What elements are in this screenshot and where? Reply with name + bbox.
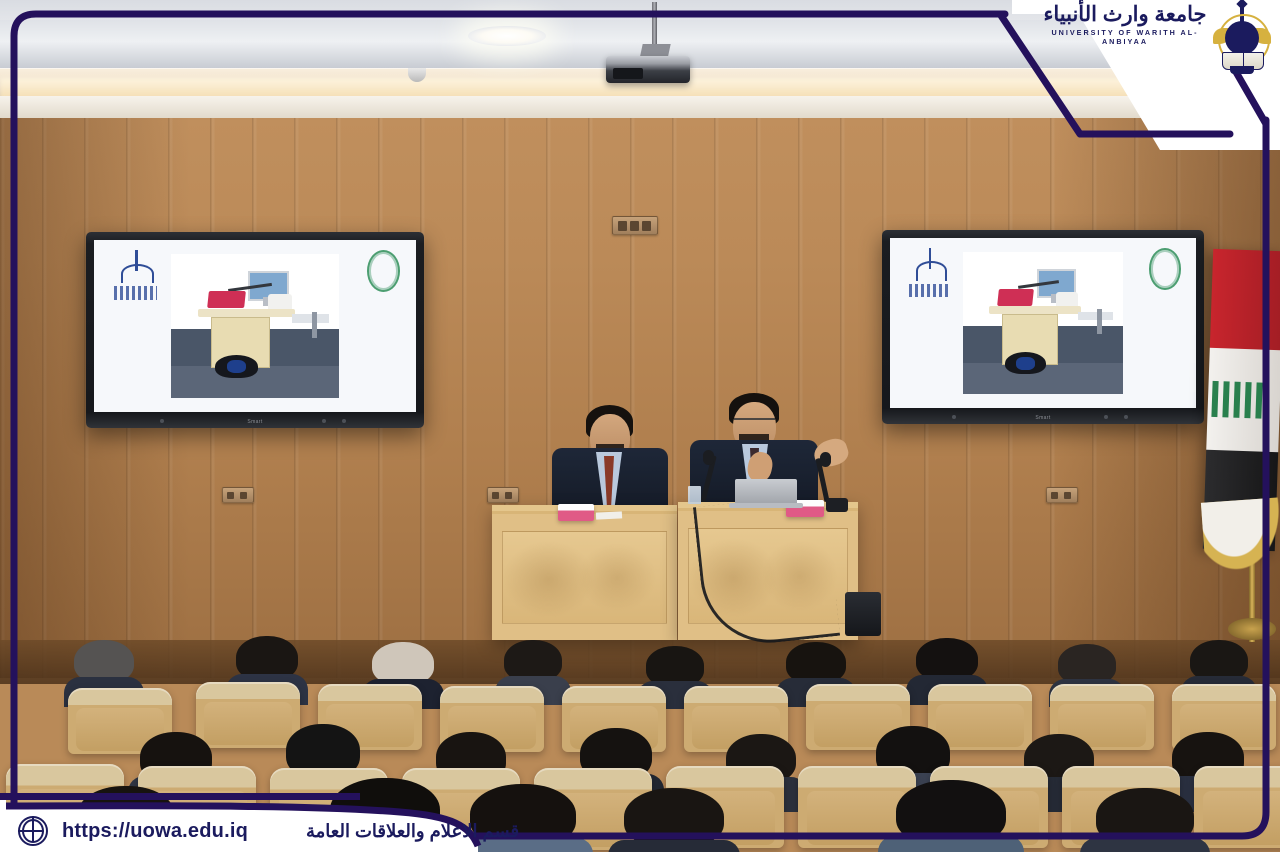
- paper-sheet: [596, 511, 622, 519]
- satchel-bag: [845, 592, 881, 636]
- wall-socket: [612, 216, 658, 235]
- flag-takbir-script: [1211, 381, 1266, 419]
- display-brand-label: Smart: [1035, 415, 1050, 421]
- wall-socket: [222, 487, 254, 503]
- podium-desk-left: [492, 505, 677, 640]
- slide-university-logo: [113, 250, 158, 302]
- display-screen-left: Smart: [86, 232, 424, 428]
- event-photograph: Smart: [0, 0, 1280, 852]
- slide-university-logo: [908, 248, 951, 299]
- camera-device: [826, 498, 848, 512]
- eyeglasses-icon: [734, 418, 775, 427]
- website-url[interactable]: https://uowa.edu.iq: [62, 820, 248, 843]
- display-brand-label: Smart: [247, 419, 262, 425]
- recessed-downlight: [468, 26, 546, 46]
- slide-content-left: [94, 240, 416, 412]
- wordmark-english: UNIVERSITY OF WARITH AL-ANBIYAA: [1040, 28, 1210, 46]
- slide-content-right: [890, 238, 1196, 408]
- tissue-box: [558, 504, 594, 521]
- microphone-head: [820, 452, 831, 467]
- ceiling-projector: [606, 56, 690, 83]
- slide-photo: [963, 252, 1122, 395]
- wall-socket: [487, 487, 519, 503]
- auditorium-seat: [1194, 766, 1280, 848]
- attendee: [1096, 788, 1194, 852]
- globe-icon: [18, 816, 48, 846]
- photo-card: Smart: [0, 0, 1280, 852]
- slide-green-seal: [367, 250, 400, 292]
- footer-bar: https://uowa.edu.iq قسم الاعلام والعلاقا…: [0, 810, 760, 852]
- wordmark-arabic: جامعة وارث الأنبياء: [1040, 4, 1210, 26]
- projector-rod: [652, 2, 657, 50]
- slide-green-seal: [1149, 248, 1181, 289]
- display-screen-right: Smart: [882, 230, 1204, 424]
- flag-gold-fringe: [1201, 497, 1280, 622]
- department-name: قسم الاعلام والعلاقات العامة: [306, 821, 519, 842]
- slide-photo: [171, 254, 338, 398]
- wall-socket: [1046, 487, 1078, 503]
- water-glass: [688, 486, 701, 504]
- attendee: [896, 780, 1006, 852]
- microphone-head: [703, 450, 714, 465]
- university-crest-icon: [1214, 2, 1270, 76]
- university-wordmark: جامعة وارث الأنبياء UNIVERSITY OF WARITH…: [1040, 4, 1210, 46]
